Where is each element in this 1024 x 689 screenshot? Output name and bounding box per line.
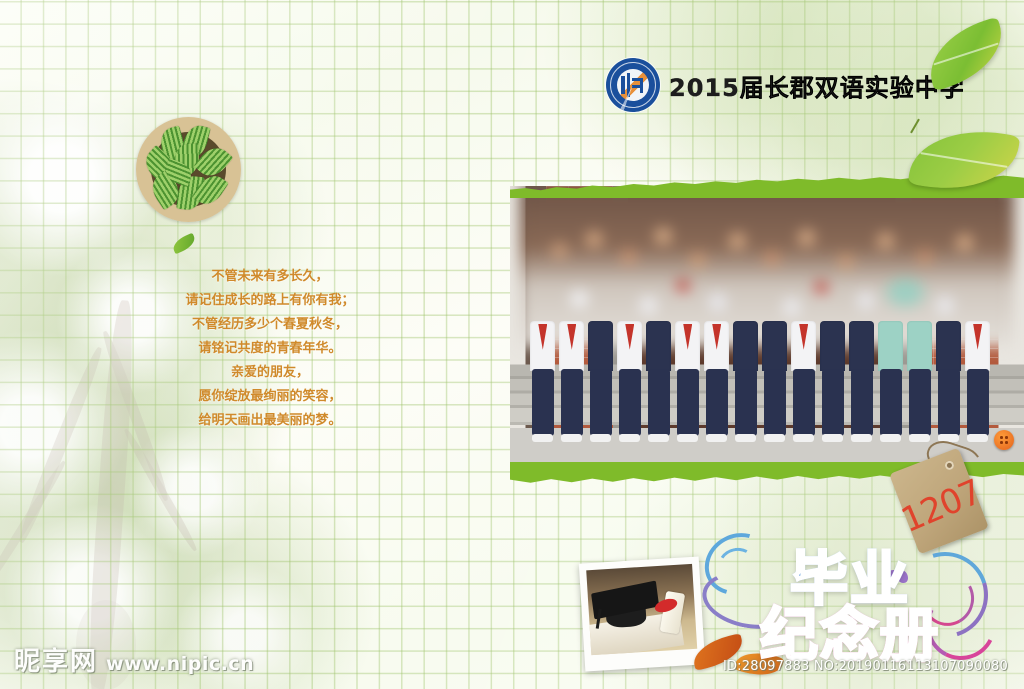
image-id-watermark: ID:28097883 NO:20190116113107090080 [723,659,1008,674]
orange-button-icon [994,430,1014,450]
diploma-scroll-icon [660,591,686,634]
poem-line: 愿你绽放最绚丽的笑容， [150,385,390,409]
site-url: www.nipic.cn [106,653,254,675]
site-watermark: 昵享网 www.nipic.cn [14,641,254,678]
graduation-cap-polaroid [579,556,705,671]
poem-line: 不管未来有多长久， [150,265,390,289]
poem-line: 不管经历多少个春夏秋冬， [150,313,390,337]
school-logo-icon [606,58,660,112]
poem-line: 请记住成长的路上有你有我； [150,289,390,313]
poem-line: 请铭记共度的青春年华。 [150,337,390,361]
poem-line: 给明天画出最美丽的梦。 [150,409,390,433]
page-title: 2015届长郡双语实验中学 [669,68,965,103]
album-title-block: 毕业 纪念册 [700,528,1000,668]
poem-line: 亲爱的朋友， [150,361,390,385]
front-row-students [525,321,1008,439]
graduation-album-cover: 2015届长郡双语实验中学 不管未来有多长久， 请记住成长的路上有你有我； 不管… [0,0,1024,689]
poem-text-block: 不管未来有多长久， 请记住成长的路上有你有我； 不管经历多少个春夏秋冬， 请铭记… [150,265,390,433]
potted-plant-image [136,117,241,222]
header: 2015届长郡双语实验中学 [606,58,965,112]
site-name: 昵享网 [14,641,98,678]
